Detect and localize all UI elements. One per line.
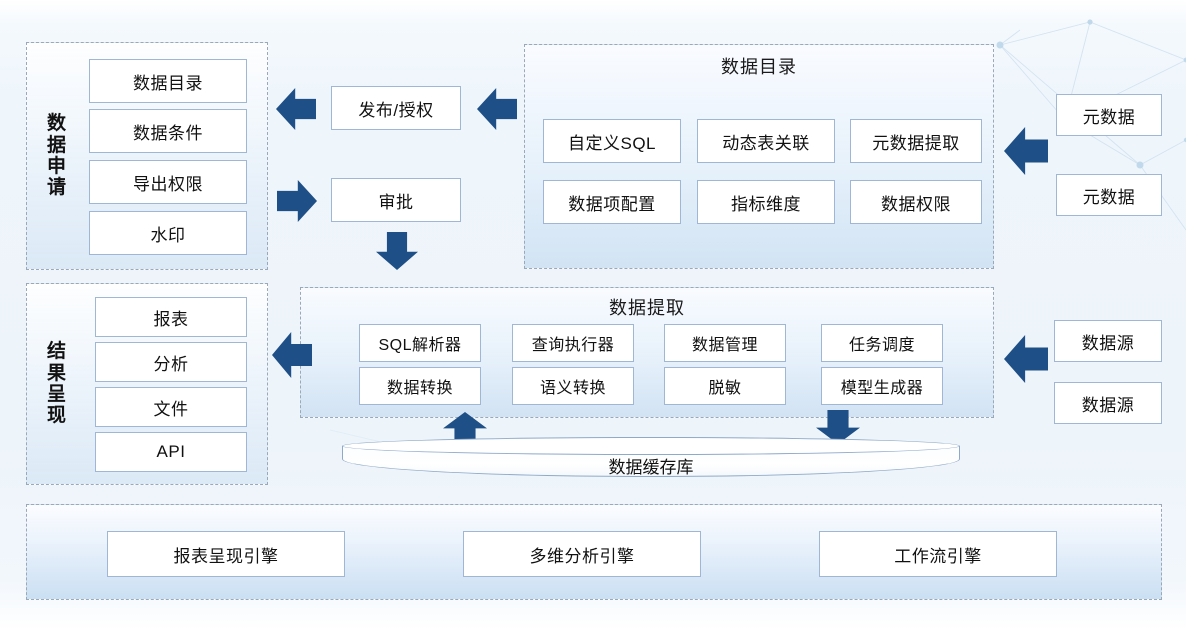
box-dynamic-table-relation[interactable]: 动态表关联	[697, 119, 835, 163]
box-export-permission[interactable]: 导出权限	[89, 160, 247, 204]
box-file[interactable]: 文件	[95, 387, 247, 427]
box-data-conditions[interactable]: 数据条件	[89, 109, 247, 153]
label-char: 请	[47, 177, 67, 198]
box-model-generator[interactable]: 模型生成器	[821, 367, 943, 405]
box-data-management[interactable]: 数据管理	[664, 324, 786, 362]
arrow-application-to-approval	[277, 180, 317, 222]
arrow-datasource-to-extract	[1004, 335, 1048, 383]
box-workflow-engine[interactable]: 工作流引擎	[819, 531, 1057, 577]
box-data-item-config[interactable]: 数据项配置	[543, 180, 681, 224]
arrow-metadata-to-catalog	[1004, 127, 1048, 175]
box-semantic-transform[interactable]: 语义转换	[512, 367, 634, 405]
panel-data-extraction: 数据提取 SQL解析器 查询执行器 数据管理 任务调度 数据转换 语义转换 脱敏…	[300, 287, 994, 418]
box-data-permission[interactable]: 数据权限	[850, 180, 982, 224]
box-datasource-2[interactable]: 数据源	[1054, 382, 1162, 424]
box-api[interactable]: API	[95, 432, 247, 472]
panel-data-extraction-title: 数据提取	[301, 294, 993, 320]
label-char: 申	[47, 156, 67, 177]
label-char: 果	[47, 363, 67, 384]
panel-result-presentation-label: 结 果 呈 现	[35, 284, 79, 484]
panel-data-application: 数 据 申 请 数据目录 数据条件 导出权限 水印	[26, 42, 268, 270]
box-query-executor[interactable]: 查询执行器	[512, 324, 634, 362]
label-char: 现	[47, 405, 67, 426]
box-metadata-extraction[interactable]: 元数据提取	[850, 119, 982, 163]
panel-engines: 报表呈现引擎 多维分析引擎 工作流引擎	[26, 504, 1162, 600]
box-data-transform[interactable]: 数据转换	[359, 367, 481, 405]
panel-data-application-label: 数 据 申 请	[35, 43, 79, 269]
box-analysis[interactable]: 分析	[95, 342, 247, 382]
box-metadata-2[interactable]: 元数据	[1056, 174, 1162, 216]
box-metadata-1[interactable]: 元数据	[1056, 94, 1162, 136]
panel-data-catalog-title: 数据目录	[525, 53, 993, 79]
label-char: 呈	[47, 384, 67, 405]
panel-data-catalog: 数据目录 自定义SQL 动态表关联 元数据提取 数据项配置 指标维度 数据权限	[524, 44, 994, 269]
label-char: 结	[47, 341, 67, 362]
arrow-catalog-to-publish	[477, 88, 517, 130]
panel-result-presentation: 结 果 呈 现 报表 分析 文件 API	[26, 283, 268, 485]
box-sql-parser[interactable]: SQL解析器	[359, 324, 481, 362]
cache-database-cylinder: 数据缓存库	[342, 437, 960, 477]
box-metric-dimension[interactable]: 指标维度	[697, 180, 835, 224]
label-char: 数	[47, 113, 67, 134]
cache-database-label: 数据缓存库	[342, 453, 960, 478]
box-data-masking[interactable]: 脱敏	[664, 367, 786, 405]
label-char: 据	[47, 135, 67, 156]
diagram-canvas: 数 据 申 请 数据目录 数据条件 导出权限 水印 结 果 呈 现 报表 分析 …	[0, 0, 1186, 630]
arrow-publish-to-application	[276, 88, 316, 130]
box-watermark[interactable]: 水印	[89, 211, 247, 255]
box-multidimensional-analysis-engine[interactable]: 多维分析引擎	[463, 531, 701, 577]
box-task-scheduling[interactable]: 任务调度	[821, 324, 943, 362]
box-publish-authorize[interactable]: 发布/授权	[331, 86, 461, 130]
box-approval[interactable]: 审批	[331, 178, 461, 222]
box-datasource-1[interactable]: 数据源	[1054, 320, 1162, 362]
box-custom-sql[interactable]: 自定义SQL	[543, 119, 681, 163]
box-report[interactable]: 报表	[95, 297, 247, 337]
box-data-catalog-apply[interactable]: 数据目录	[89, 59, 247, 103]
arrow-approval-to-extract	[376, 232, 418, 270]
box-report-presentation-engine[interactable]: 报表呈现引擎	[107, 531, 345, 577]
